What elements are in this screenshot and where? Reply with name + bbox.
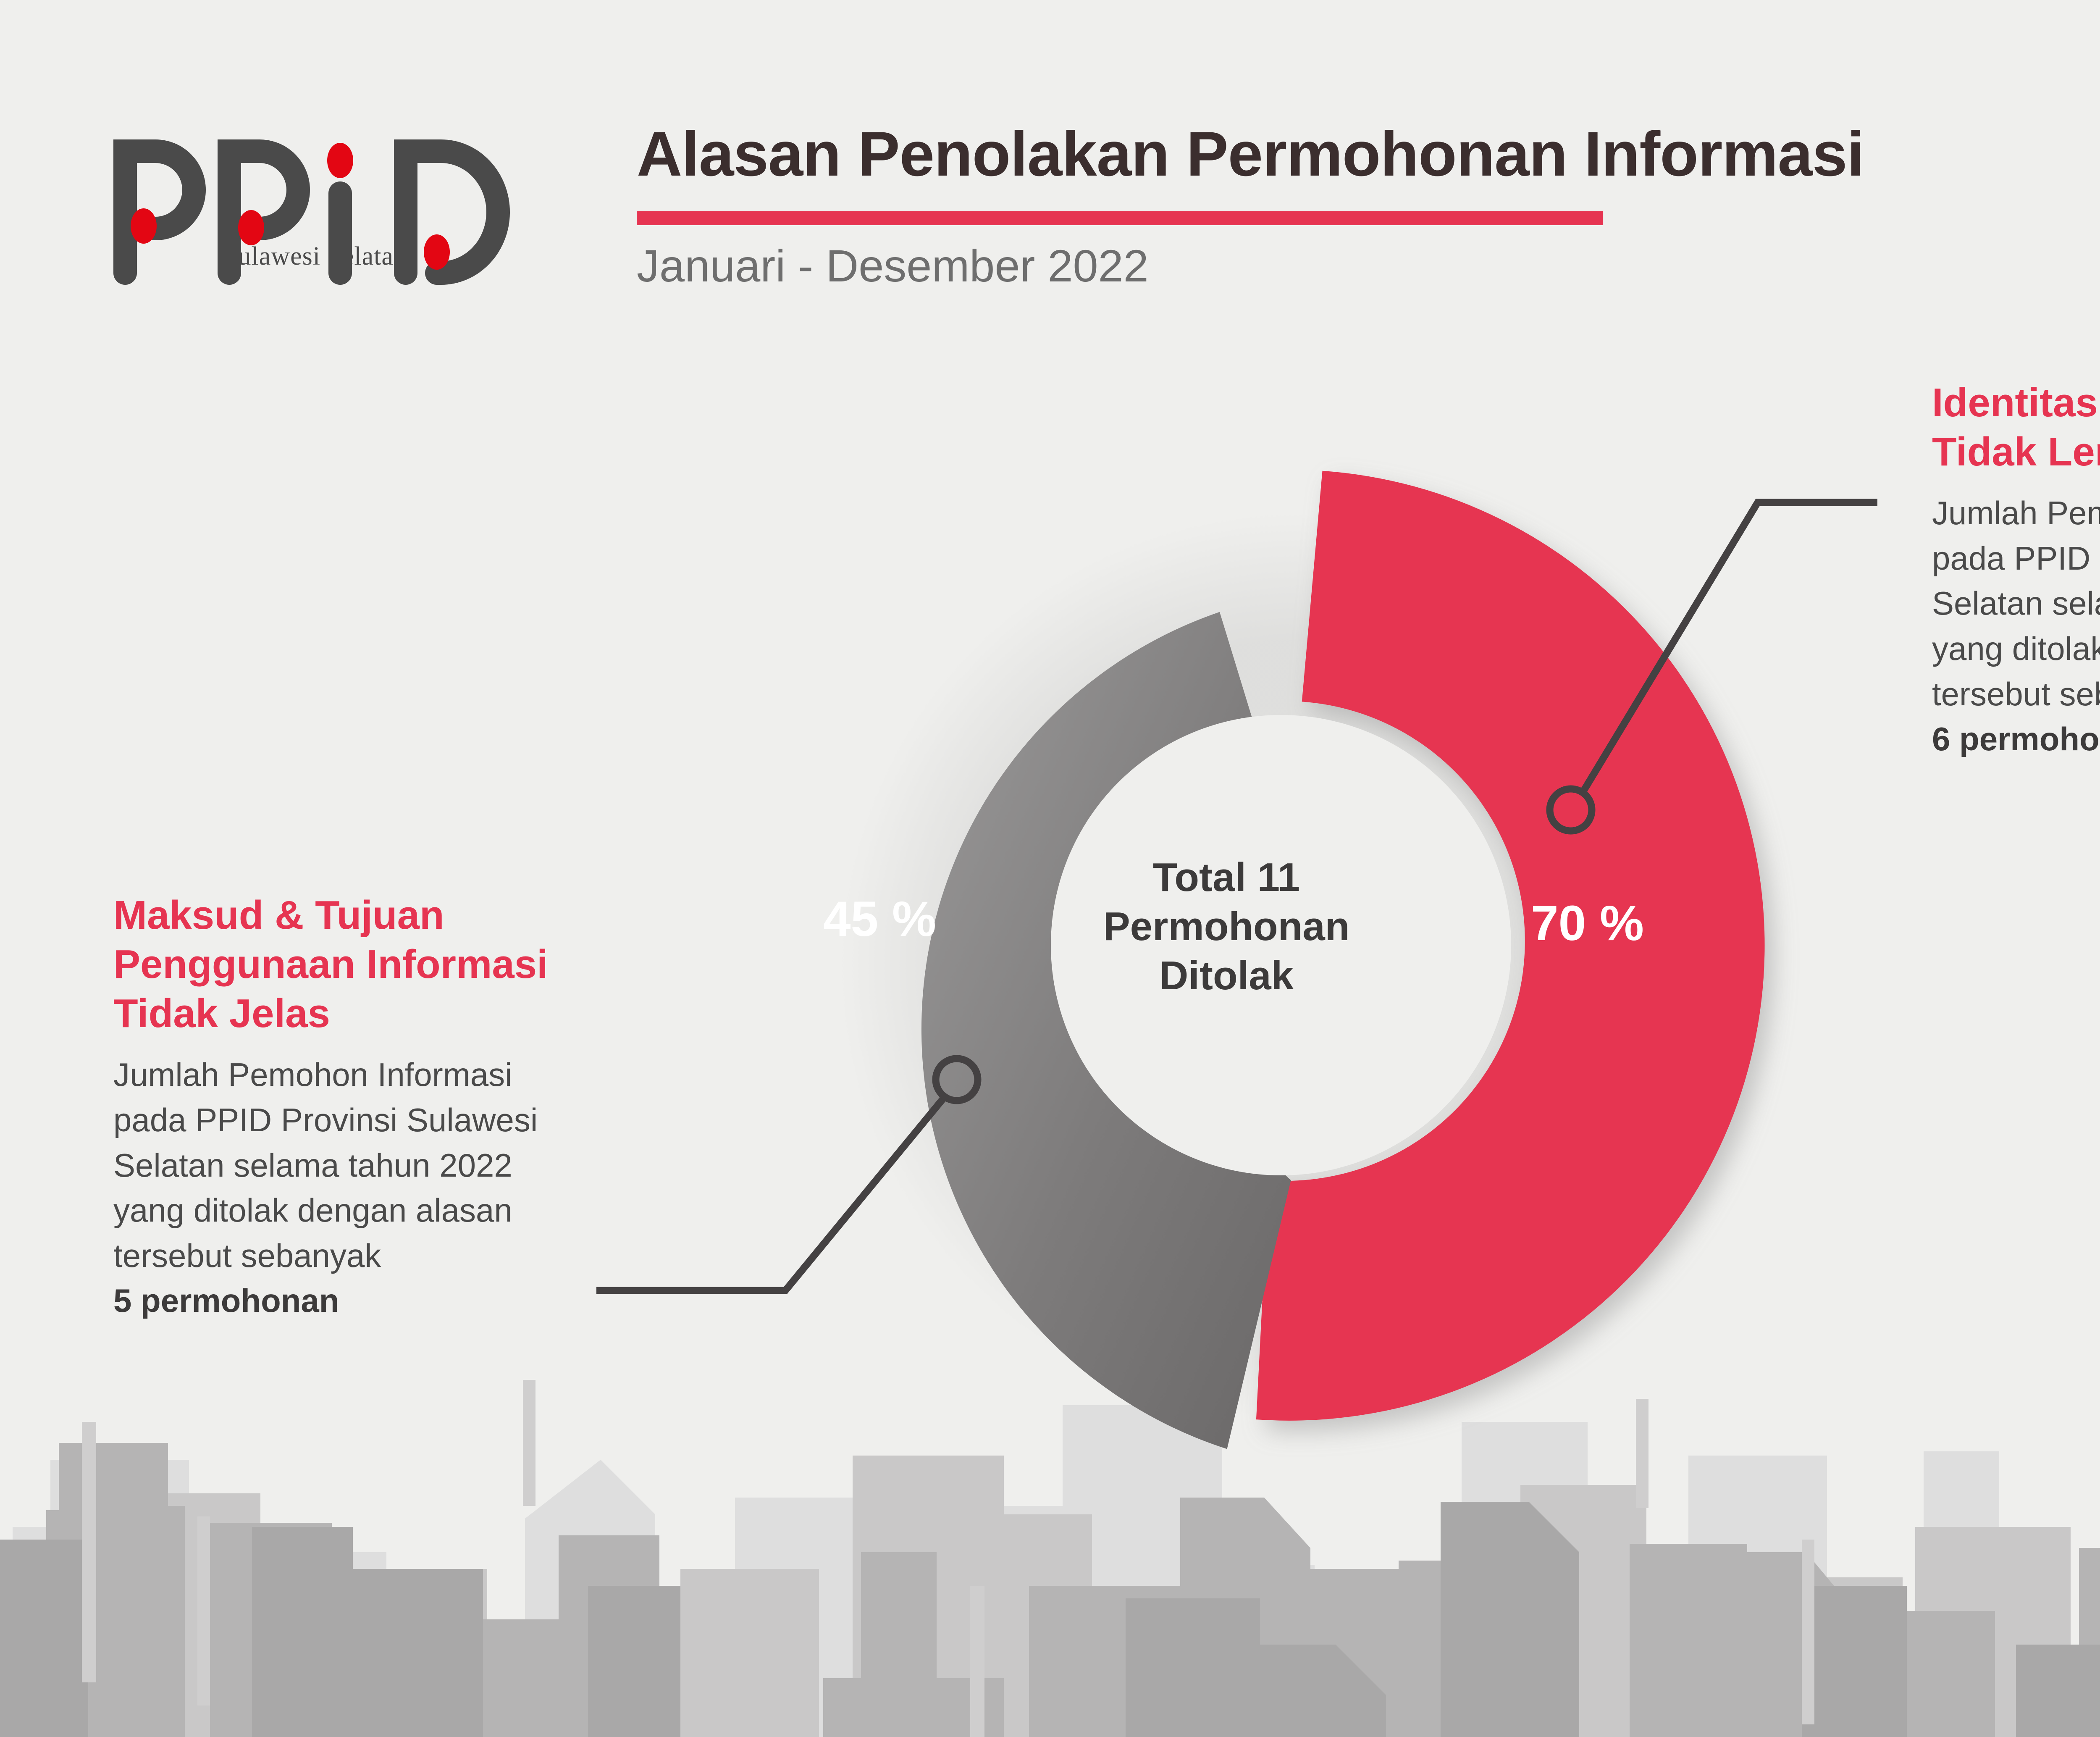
callout-identitas-pemohon: Identitas Pemohon Tidak Lengkap Jumlah P…	[1932, 378, 2100, 762]
callout-right-body: Jumlah Pemohon Informasi pada PPID Provi…	[1932, 491, 2100, 762]
callout-right-body-text: Jumlah Pemohon Informasi pada PPID Provi…	[1932, 494, 2100, 712]
donut-center-label: Total 11 Permohonan Ditolak	[1046, 853, 1407, 1000]
logo-dot-3	[327, 143, 353, 178]
callout-left-body-text: Jumlah Pemohon Informasi pada PPID Provi…	[113, 1056, 538, 1274]
ppid-logo	[105, 126, 525, 286]
center-line-3: Ditolak	[1046, 951, 1407, 1000]
page-title: Alasan Penolakan Permohonan Informasi	[637, 118, 1864, 190]
page-subtitle: Januari - Desember 2022	[637, 239, 1149, 292]
callout-left-emphasis: 5 permohonan	[113, 1282, 339, 1319]
center-line-1: Total 11	[1046, 853, 1407, 902]
logo-dot-1	[131, 208, 157, 244]
callout-left-heading: Maksud & Tujuan Penggunaan Informasi Tid…	[113, 891, 550, 1038]
percent-label-gray: 45 %	[823, 891, 936, 948]
title-underline-rule	[637, 211, 1603, 225]
callout-left-body: Jumlah Pemohon Informasi pada PPID Provi…	[113, 1052, 550, 1324]
percent-label-red: 70 %	[1531, 895, 1644, 952]
callout-maksud-tujuan: Maksud & Tujuan Penggunaan Informasi Tid…	[113, 891, 550, 1324]
logo-dot-4	[424, 234, 450, 270]
callout-right-emphasis: 6 permohonan	[1932, 720, 2100, 757]
callout-right-heading: Identitas Pemohon Tidak Lengkap	[1932, 378, 2100, 476]
logo-dot-2	[238, 210, 264, 245]
center-line-2: Permohonan	[1046, 902, 1407, 951]
